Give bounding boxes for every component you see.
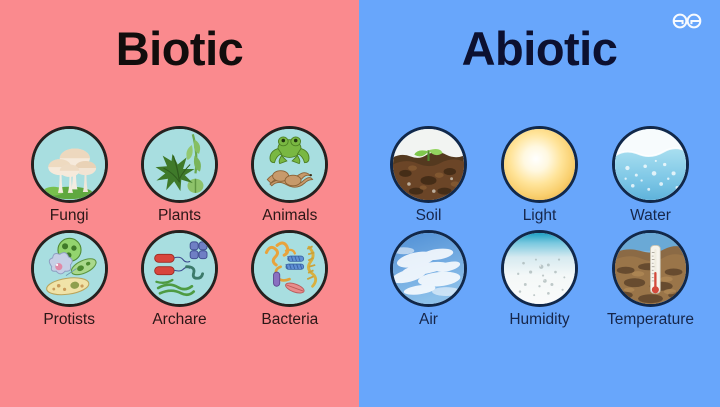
biotic-item-animals[interactable]: Animals — [235, 126, 345, 224]
water-bubbles-icon — [612, 126, 689, 203]
biotic-item-label: Fungi — [50, 207, 89, 224]
biotic-item-label: Protists — [43, 311, 95, 328]
abiotic-panel: Abiotic — [359, 0, 720, 407]
leaf-plant-icon — [141, 126, 218, 203]
abiotic-item-air[interactable]: Air — [373, 230, 484, 328]
biotic-panel-title: Biotic — [0, 25, 359, 72]
biotic-panel: Biotic — [0, 0, 359, 407]
abiotic-item-temperature[interactable]: Temperature — [595, 230, 706, 328]
biotic-item-bacteria[interactable]: Bacteria — [235, 230, 345, 328]
abiotic-item-light[interactable]: Light — [484, 126, 595, 224]
abiotic-item-humidity[interactable]: Humidity — [484, 230, 595, 328]
biotic-item-plants[interactable]: Plants — [124, 126, 234, 224]
biotic-item-label: Animals — [262, 207, 317, 224]
infographic-canvas: Biotic — [0, 0, 720, 407]
sun-glow-icon — [501, 126, 578, 203]
abiotic-item-label: Air — [419, 311, 438, 328]
desert-thermometer-icon — [612, 230, 689, 307]
bacteria-icon — [251, 230, 328, 307]
biotic-item-archare[interactable]: Archare — [124, 230, 234, 328]
abiotic-item-grid: Soil — [359, 126, 720, 328]
clouds-sky-icon — [390, 230, 467, 307]
frog-snake-icon — [251, 126, 328, 203]
mist-droplets-icon — [501, 230, 578, 307]
protist-cells-icon — [31, 230, 108, 307]
abiotic-item-label: Light — [523, 207, 557, 224]
biotic-item-label: Plants — [158, 207, 201, 224]
biotic-item-label: Archare — [152, 311, 206, 328]
abiotic-item-label: Humidity — [509, 311, 569, 328]
soil-seedling-icon — [390, 126, 467, 203]
biotic-item-fungi[interactable]: Fungi — [14, 126, 124, 224]
abiotic-item-label: Temperature — [607, 311, 694, 328]
biotic-item-protists[interactable]: Protists — [14, 230, 124, 328]
archaea-microbes-icon — [141, 230, 218, 307]
abiotic-item-soil[interactable]: Soil — [373, 126, 484, 224]
abiotic-item-label: Soil — [416, 207, 442, 224]
biotic-item-label: Bacteria — [261, 311, 318, 328]
mushrooms-icon — [31, 126, 108, 203]
abiotic-panel-title: Abiotic — [359, 25, 720, 72]
biotic-item-grid: Fungi — [0, 126, 359, 328]
abiotic-item-label: Water — [630, 207, 671, 224]
abiotic-item-water[interactable]: Water — [595, 126, 706, 224]
